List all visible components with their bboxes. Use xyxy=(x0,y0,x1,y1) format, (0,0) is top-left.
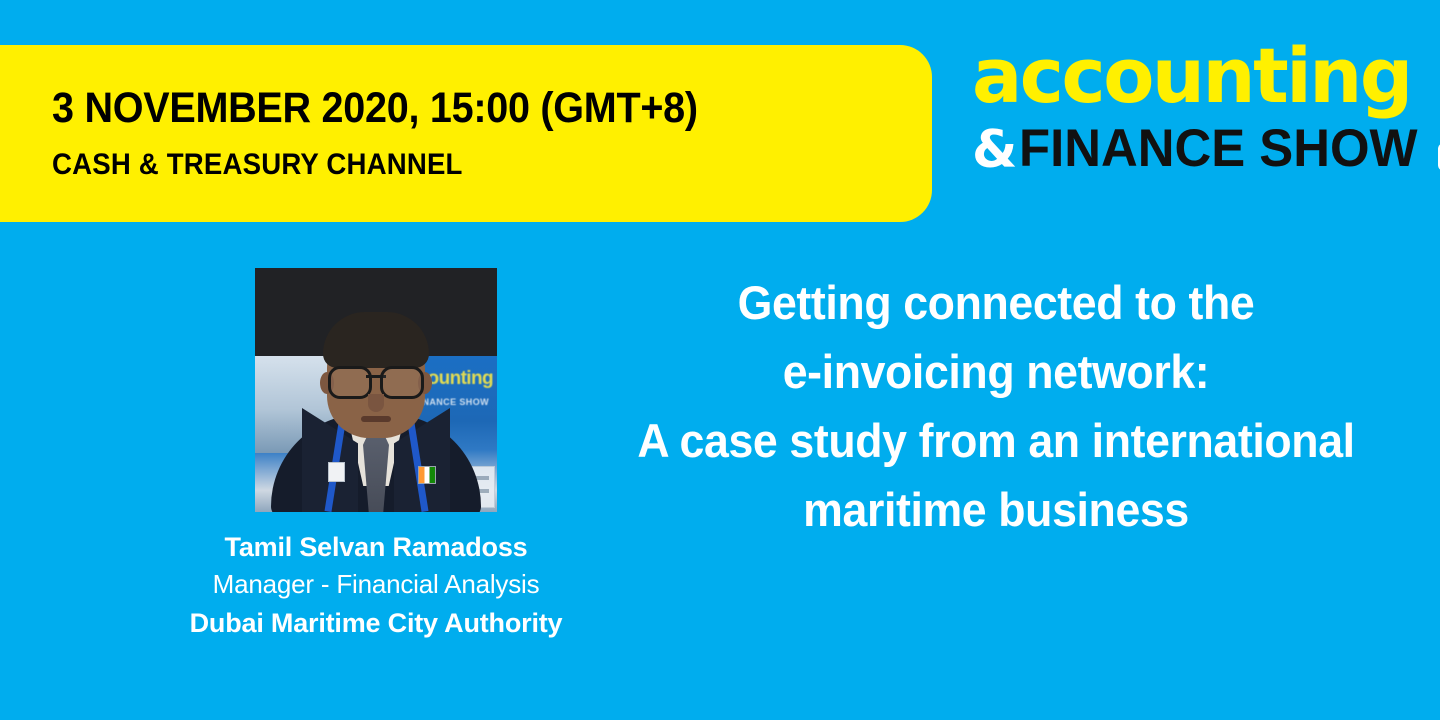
photo-person-glasses xyxy=(328,366,424,394)
session-title: Getting connected to the e-invoicing net… xyxy=(566,268,1426,544)
photo-person-mouth xyxy=(361,416,391,422)
logo-ampersand-icon: & xyxy=(972,127,1015,175)
speaker-role: Manager - Financial Analysis xyxy=(62,566,690,604)
speaker-organisation: Dubai Maritime City Authority xyxy=(62,604,690,643)
session-title-line-2: e-invoicing network: xyxy=(588,337,1405,406)
event-channel: CASH & TREASURY CHANNEL xyxy=(52,149,862,181)
event-banner: 3 NOVEMBER 2020, 15:00 (GMT+8) CASH & TR… xyxy=(0,45,932,222)
session-title-line-3: A case study from an international xyxy=(588,406,1405,475)
logo-word-finance-show: FINANCE SHOW xyxy=(1019,124,1418,174)
speaker-photo: accounting & FINANCE SHOW xyxy=(255,268,497,512)
photo-person-badge-pin xyxy=(328,462,345,482)
logo-word-accounting: accounting xyxy=(972,38,1411,114)
event-datetime: 3 NOVEMBER 2020, 15:00 (GMT+8) xyxy=(52,86,862,131)
glasses-lens-left xyxy=(328,366,372,399)
session-title-line-4: maritime business xyxy=(588,475,1405,544)
glasses-lens-right xyxy=(380,366,424,399)
photo-person-nose xyxy=(368,394,384,412)
photo-person-flag-pin xyxy=(418,466,436,484)
logo-second-row: & FINANCE SHOW ASIA xyxy=(972,124,1440,174)
photo-person-hair xyxy=(323,312,429,368)
session-title-line-1: Getting connected to the xyxy=(588,268,1405,337)
brand-logo: accounting & FINANCE SHOW ASIA xyxy=(972,44,1424,182)
promo-slide: 3 NOVEMBER 2020, 15:00 (GMT+8) CASH & TR… xyxy=(0,0,1440,720)
